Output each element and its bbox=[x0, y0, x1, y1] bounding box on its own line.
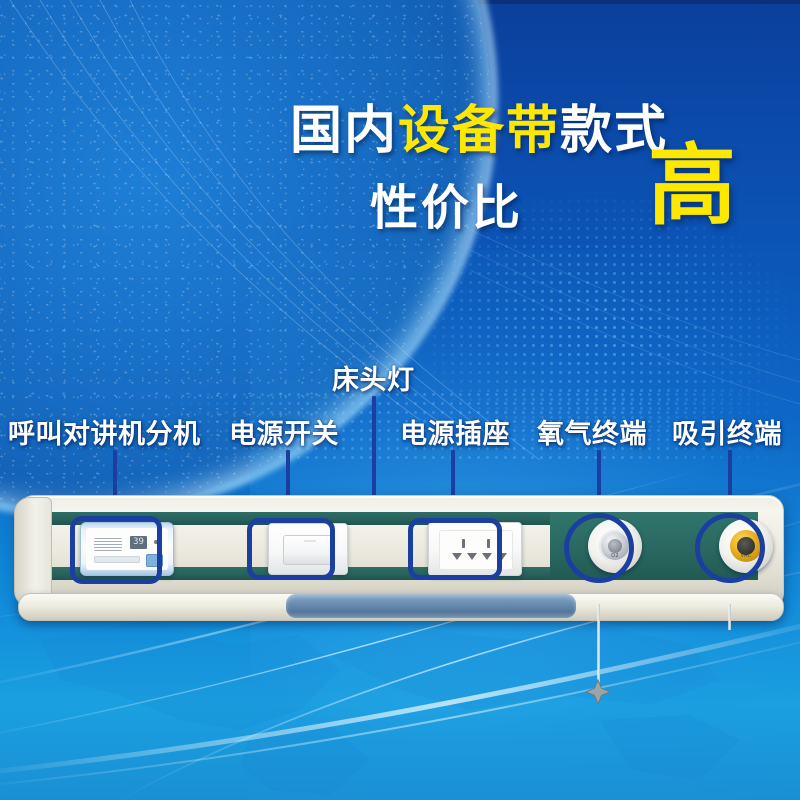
highlight-oxygen-terminal bbox=[564, 513, 634, 583]
highlight-suction-terminal bbox=[695, 513, 765, 583]
promo-banner: 国内设备带款式 性价比 高 呼叫对讲机分机 电源开关 床头灯 电源插座 氧气终端… bbox=[0, 0, 800, 800]
headline-line-1: 国内设备带款式 bbox=[290, 88, 670, 163]
headline-emphasis: 高 bbox=[648, 142, 736, 230]
world-map-silhouette bbox=[0, 600, 800, 800]
callout-power-switch-label: 电源开关 bbox=[229, 412, 339, 451]
cord-pull-handle-icon[interactable] bbox=[583, 678, 613, 708]
suction-pull-cord[interactable] bbox=[728, 604, 731, 630]
highlight-power-socket bbox=[408, 518, 502, 580]
highlight-power-switch bbox=[247, 518, 335, 580]
callout-suction-terminal-label: 吸引终端 bbox=[672, 412, 782, 451]
headline-part-1: 国内 bbox=[290, 101, 398, 161]
callout-intercom-label: 呼叫对讲机分机 bbox=[8, 412, 201, 451]
headline-part-2: 设备带 bbox=[398, 101, 560, 161]
callout-power-socket-label: 电源插座 bbox=[400, 412, 510, 451]
callout-oxygen-terminal-label: 氧气终端 bbox=[537, 412, 647, 451]
bed-lamp-diffuser bbox=[286, 594, 576, 618]
headline-line-2: 性价比 bbox=[370, 168, 523, 238]
oxygen-pull-cord[interactable] bbox=[597, 604, 600, 688]
callout-bed-lamp-label: 床头灯 bbox=[332, 358, 415, 397]
highlight-intercom bbox=[70, 516, 162, 584]
panel-left-end-cap bbox=[14, 497, 52, 607]
